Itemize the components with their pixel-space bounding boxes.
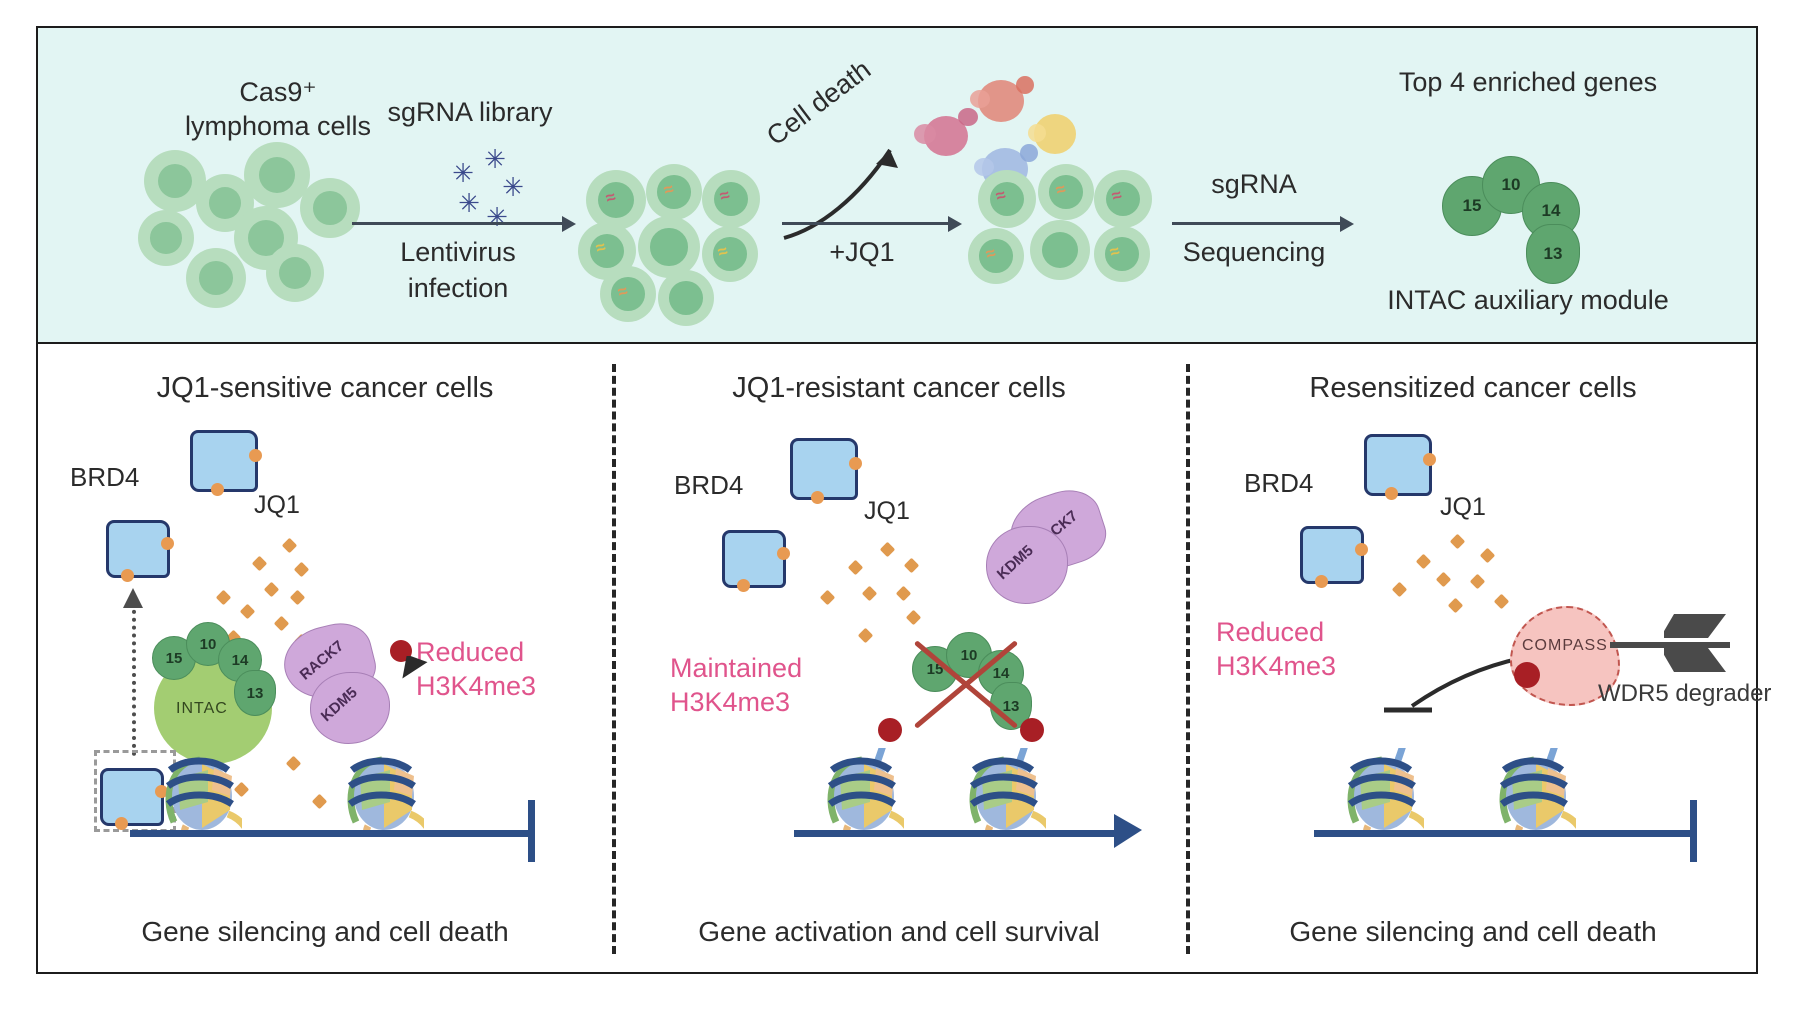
h3k4me3-label-line2-p1: H3K4me3 [416, 670, 536, 703]
brd4-eviction-arrow-p1 [132, 602, 136, 756]
jq1-label-p1: JQ1 [254, 490, 300, 520]
panel-caption-resensitized: Gene silencing and cell death [1186, 916, 1760, 948]
figure-frame: Cas9⁺ lymphoma cells sgRNA library ✳ ✳ ✳… [36, 26, 1758, 974]
h3k4me3-label-line1-p1: Reduced [416, 636, 524, 669]
h3k4me3-label-line1-p2: Maintained [670, 652, 802, 685]
h3k4me3-label-line2-p3: H3K4me3 [1216, 650, 1336, 683]
brd4-label-p1: BRD4 [70, 462, 139, 493]
h3k4me3-label-line1-p3: Reduced [1216, 616, 1324, 649]
h3k4me3-mark-1-p2 [878, 718, 902, 742]
jq1-treatment-label: +JQ1 [829, 236, 894, 268]
sequencing-label-line2: Sequencing [1183, 236, 1326, 268]
top-workflow-panel: Cas9⁺ lymphoma cells sgRNA library ✳ ✳ ✳… [38, 28, 1756, 344]
jq1-label-p2: JQ1 [864, 496, 910, 526]
intac-subunit-13: 13 [1526, 224, 1580, 284]
wdr5-degrader-label-p3: WDR5 degrader [1598, 680, 1771, 709]
bottom-panels: JQ1-sensitive cancer cells BRD4 JQ1 [38, 344, 1756, 972]
h3k4me3-label-line2-p2: H3K4me3 [670, 686, 790, 719]
wdr5-degrader-fletching-p3 [1664, 610, 1764, 680]
dna-strand-p3 [1314, 830, 1696, 837]
sgrna-library-label: sgRNA library [387, 96, 552, 128]
brd4-blob-1-p1 [190, 430, 258, 492]
cas9-cells-label-line2: lymphoma cells [185, 110, 371, 142]
h3k4me3-mark-2-p2 [1020, 718, 1044, 742]
panel-title-resensitized: Resensitized cancer cells [1186, 372, 1760, 405]
lentivirus-label-line2: infection [408, 272, 509, 304]
brd4-blob-1-p3 [1364, 434, 1432, 496]
panel-resensitized: Resensitized cancer cells BRD4 JQ1 [1186, 344, 1760, 972]
panel-title-jq1-sensitive: JQ1-sensitive cancer cells [38, 372, 612, 405]
h3k4me3-pointer-p1 [364, 656, 430, 706]
dna-strand-p2 [794, 830, 1124, 837]
brd4-label-p3: BRD4 [1244, 468, 1313, 499]
intac-label-p1: INTAC [176, 700, 228, 718]
jq1-label-p3: JQ1 [1440, 492, 1486, 522]
brd4-blob-2-p2 [722, 530, 786, 588]
brd4-bound-p1 [100, 768, 164, 826]
brd4-label-p2: BRD4 [674, 470, 743, 501]
panel-jq1-resistant: JQ1-resistant cancer cells BRD4 JQ1 [612, 344, 1186, 972]
panel-caption-jq1-resistant: Gene activation and cell survival [612, 916, 1186, 948]
dna-terminus-block-p3 [1690, 800, 1697, 862]
h3k4me3-mark-p3 [1514, 662, 1540, 688]
panel-title-jq1-resistant: JQ1-resistant cancer cells [612, 372, 1186, 405]
lentivirus-label-line1: Lentivirus [400, 236, 516, 268]
dna-terminus-arrow-p2 [1112, 810, 1152, 858]
brd4-eviction-arrowhead-p1 [122, 588, 146, 610]
compass-label-p3: COMPASS [1522, 636, 1608, 655]
figure-root: Cas9⁺ lymphoma cells sgRNA library ✳ ✳ ✳… [0, 0, 1794, 1014]
dna-terminus-block-p1 [528, 800, 535, 862]
panel-jq1-sensitive: JQ1-sensitive cancer cells BRD4 JQ1 [38, 344, 612, 972]
brd4-blob-2-p1 [106, 520, 170, 578]
panel-caption-jq1-sensitive: Gene silencing and cell death [38, 916, 612, 948]
brd4-blob-2-p3 [1300, 526, 1364, 584]
dna-strand-p1 [130, 830, 534, 837]
top-genes-label: Top 4 enriched genes [1399, 66, 1657, 98]
compass-inhibition-line-p3 [1354, 640, 1534, 724]
brd4-blob-1-p2 [790, 438, 858, 500]
sequencing-label-line1: sgRNA [1211, 168, 1297, 200]
intac-module-label: INTAC auxiliary module [1387, 284, 1669, 316]
intac-subunit-13-p1: 13 [234, 670, 276, 716]
cas9-cells-label-line1: Cas9⁺ [239, 76, 316, 108]
